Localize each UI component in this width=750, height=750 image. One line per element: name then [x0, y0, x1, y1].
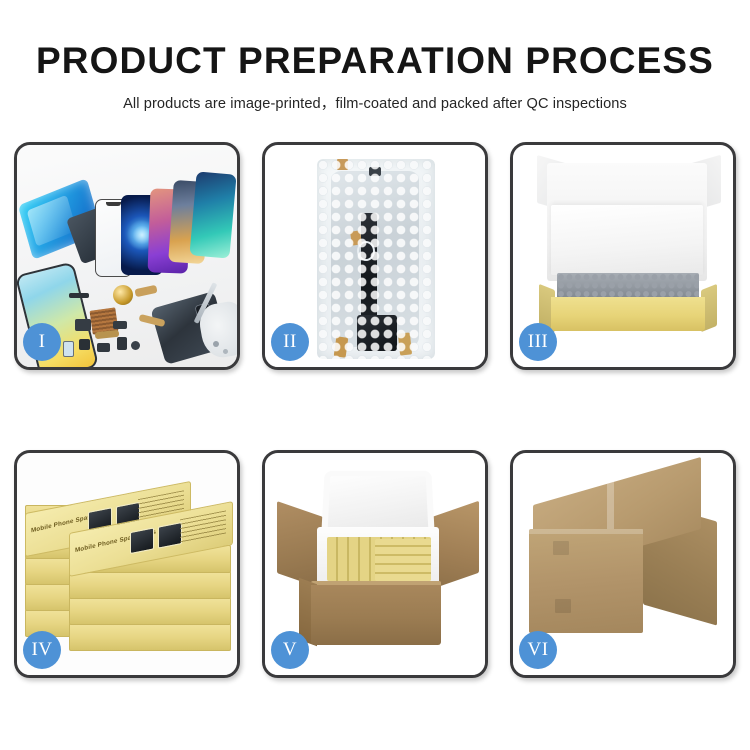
box-layer-front-5	[69, 623, 231, 651]
carton-seam-tape	[529, 529, 643, 534]
process-step-panel-1[interactable]: I	[14, 142, 240, 370]
step-badge-5: V	[271, 631, 309, 669]
styrofoam-lid	[321, 471, 435, 536]
step-badge-2: II	[271, 323, 309, 361]
step-badge-4: IV	[23, 631, 61, 669]
small-part-5	[117, 337, 127, 350]
step-badge-1: I	[23, 323, 61, 361]
page-title: PRODUCT PREPARATION PROCESS	[0, 0, 750, 81]
process-step-panel-3[interactable]: III	[510, 142, 736, 370]
step-badge-6: VI	[519, 631, 557, 669]
small-part-4	[97, 343, 110, 352]
process-step-panel-5[interactable]: V	[262, 450, 488, 678]
small-part-3	[79, 339, 90, 350]
small-part-7	[113, 321, 127, 329]
header: PRODUCT PREPARATION PROCESS All products…	[0, 0, 750, 113]
phone-screen-teal	[189, 171, 236, 258]
carton-handle-tab-top	[553, 541, 569, 555]
box-window-front-2	[158, 522, 182, 549]
box-layer-front-3	[69, 571, 231, 599]
small-part-1	[69, 293, 89, 298]
box-layer-front-4	[69, 597, 231, 625]
bubble-texture-overlay	[317, 159, 435, 359]
foam-front-panel	[551, 205, 703, 275]
small-part-6	[131, 341, 140, 350]
process-step-panel-6[interactable]: VI	[510, 450, 736, 678]
sim-tray-part	[63, 341, 74, 357]
process-step-panel-2[interactable]: II	[262, 142, 488, 370]
process-step-grid: I II	[14, 142, 736, 678]
box-window-front-1	[130, 527, 154, 554]
screw-2	[223, 349, 228, 354]
box-stack: Mobile Phone Spare Parts Mobile Phone Sp…	[25, 479, 235, 659]
box-front-face	[551, 297, 705, 331]
speaker-module	[113, 285, 133, 305]
small-part-2	[75, 319, 91, 331]
carton-front-face	[529, 529, 643, 633]
carton-handle-tab-bottom	[555, 599, 571, 613]
carton-front-face	[311, 585, 441, 645]
step-badge-3: III	[519, 323, 557, 361]
page-subtitle: All products are image-printed，film-coat…	[0, 81, 750, 113]
process-step-panel-4[interactable]: Mobile Phone Spare Parts Mobile Phone Sp…	[14, 450, 240, 678]
box-spec-lines-front	[180, 510, 226, 545]
screw-1	[213, 341, 219, 347]
yellow-boxes-contents-right	[375, 539, 431, 581]
